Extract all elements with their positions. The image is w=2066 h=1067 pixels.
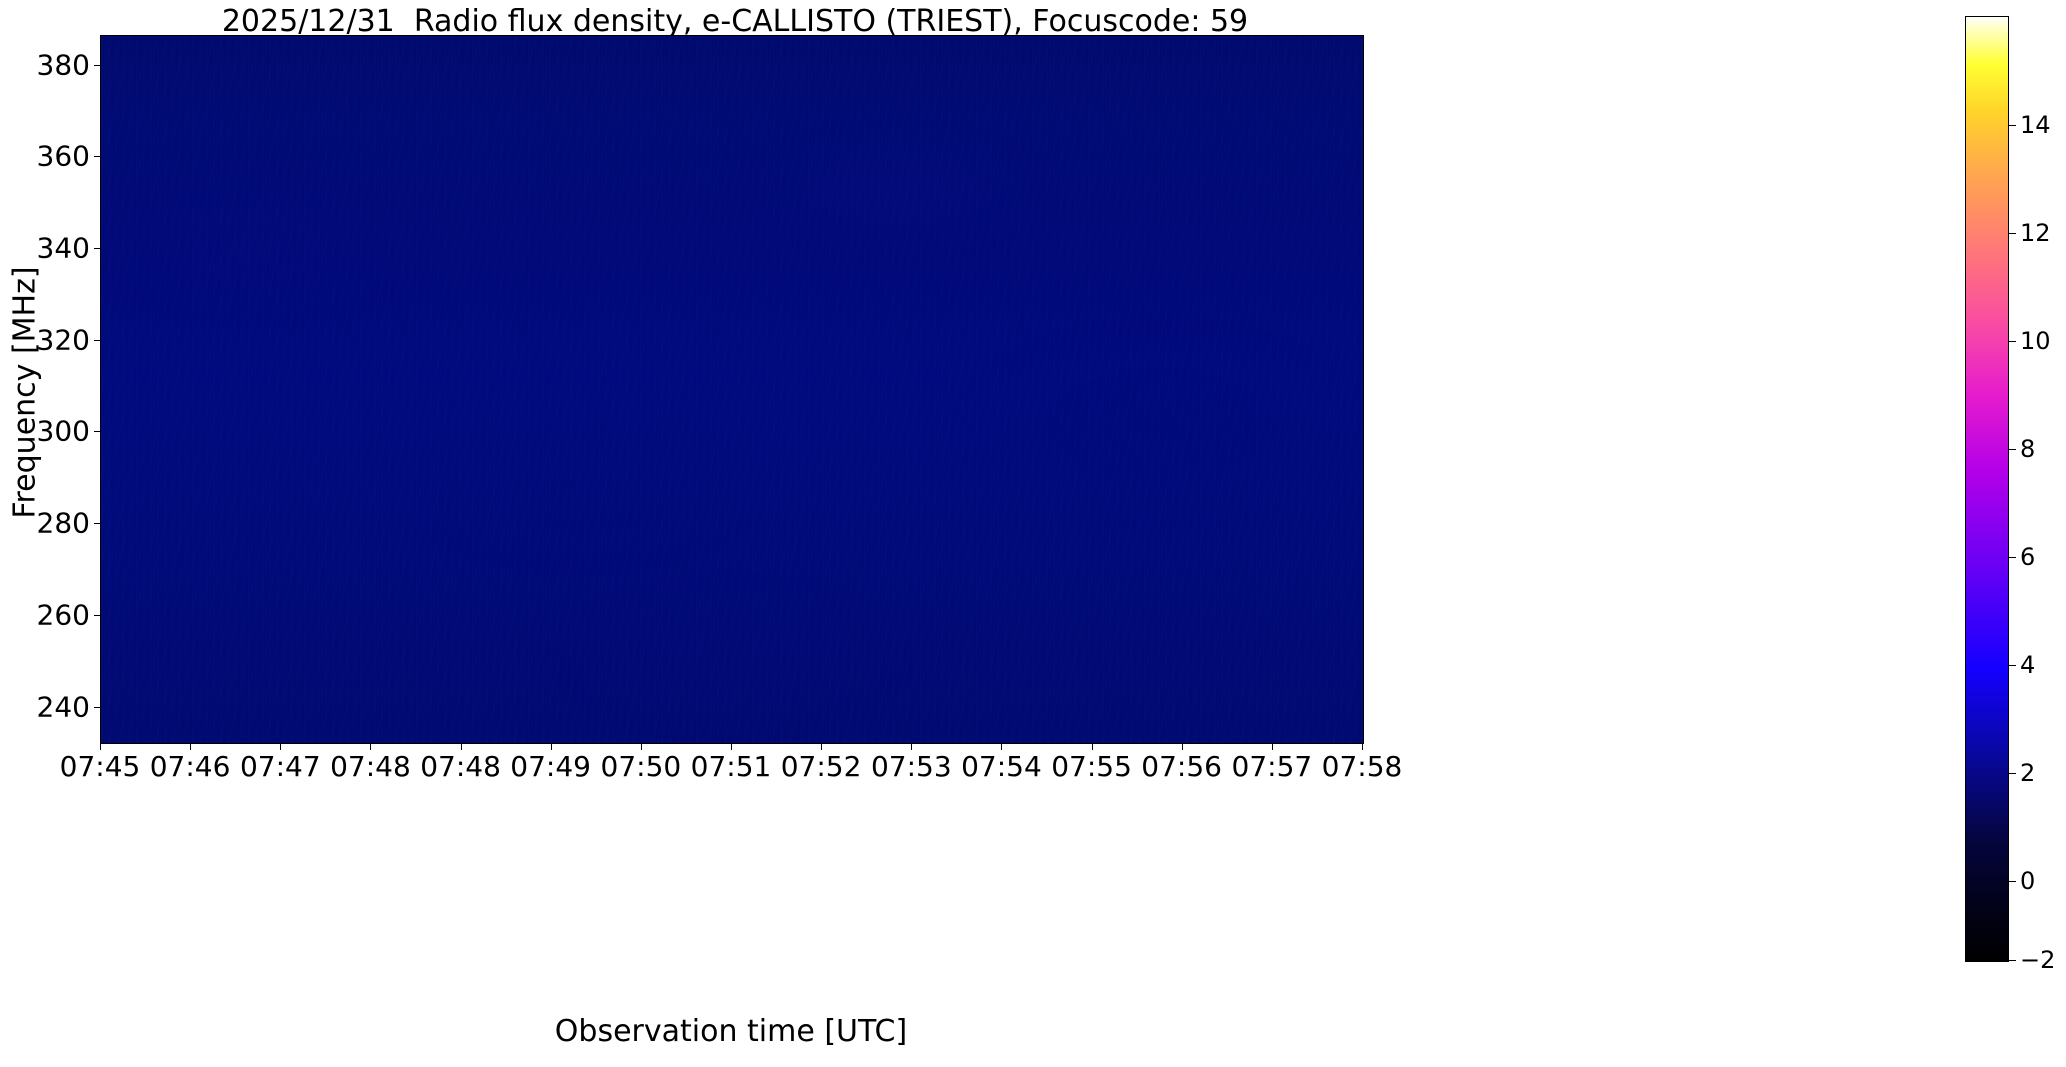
- x-tick-mark: [1001, 743, 1002, 750]
- x-axis-label: Observation time [UTC]: [100, 1014, 1362, 1049]
- y-tick-mark: [94, 248, 100, 249]
- colorbar-tick-label: 8: [2020, 435, 2035, 463]
- y-tick-mark: [94, 523, 100, 524]
- x-tick-mark: [190, 743, 191, 750]
- colorbar-tick-label: 14: [2020, 111, 2051, 139]
- figure-canvas: 2025/12/31 Radio flux density, e-CALLIST…: [0, 0, 2066, 1067]
- x-tick-mark: [100, 743, 101, 750]
- x-tick-mark: [1092, 743, 1093, 750]
- colorbar-tick-label: 4: [2020, 651, 2035, 679]
- colorbar-tick-label: −2: [2020, 946, 2055, 974]
- x-tick-mark: [641, 743, 642, 750]
- colorbar-gradient: [1966, 17, 2008, 961]
- x-tick-mark: [1182, 743, 1183, 750]
- x-tick-mark: [1362, 743, 1363, 750]
- x-tick-mark: [731, 743, 732, 750]
- y-tick-mark: [94, 707, 100, 708]
- colorbar-tick-mark: [2009, 773, 2016, 774]
- colorbar-tick-mark: [2009, 125, 2016, 126]
- x-tick-mark: [821, 743, 822, 750]
- x-tick-mark: [1272, 743, 1273, 750]
- x-tick-mark: [461, 743, 462, 750]
- colorbar-tick-mark: [2009, 557, 2016, 558]
- page-title: 2025/12/31 Radio flux density, e-CALLIST…: [0, 4, 1470, 39]
- spectrogram-axes[interactable]: [100, 35, 1364, 744]
- colorbar[interactable]: [1965, 16, 2009, 962]
- spectrogram-image: [101, 36, 1363, 743]
- colorbar-tick-mark: [2009, 341, 2016, 342]
- x-tick-mark: [280, 743, 281, 750]
- colorbar-tick-mark: [2009, 233, 2016, 234]
- colorbar-tick-label: 6: [2020, 543, 2035, 571]
- colorbar-tick-mark: [2009, 665, 2016, 666]
- x-tick-mark: [551, 743, 552, 750]
- colorbar-tick-label: 2: [2020, 759, 2035, 787]
- x-axis-ticks: 07:4507:4607:4707:4807:4807:4907:5007:51…: [100, 750, 1362, 790]
- y-axis-label: Frequency [MHz]: [8, 38, 43, 748]
- colorbar-tick-mark: [2009, 881, 2016, 882]
- y-tick-mark: [94, 340, 100, 341]
- colorbar-tick-mark: [2009, 449, 2016, 450]
- y-tick-mark: [94, 431, 100, 432]
- x-tick-mark: [370, 743, 371, 750]
- x-tick-mark: [911, 743, 912, 750]
- y-tick-mark: [94, 65, 100, 66]
- x-tick-label: 07:58: [1292, 750, 1432, 783]
- y-tick-mark: [94, 156, 100, 157]
- spectrogram-diagonal-noise: [101, 36, 1363, 743]
- colorbar-tick-label: 12: [2020, 219, 2051, 247]
- colorbar-tick-label: 10: [2020, 327, 2051, 355]
- colorbar-tick-label: 0: [2020, 867, 2035, 895]
- y-tick-mark: [94, 615, 100, 616]
- colorbar-tick-mark: [2009, 960, 2016, 961]
